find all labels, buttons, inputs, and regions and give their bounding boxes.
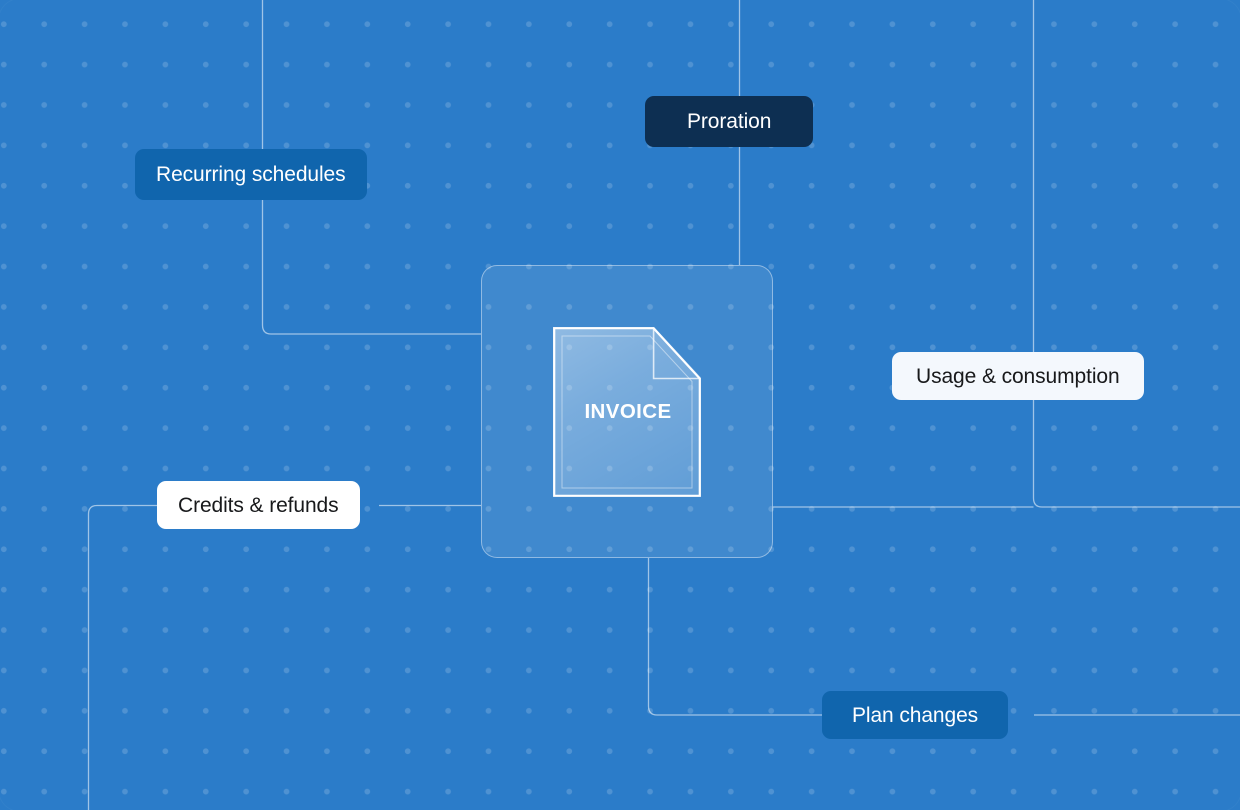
wire-plan-changes [649, 558, 823, 715]
invoice-card[interactable]: INVOICE [481, 265, 773, 558]
node-recurring-schedules[interactable]: Recurring schedules [135, 149, 367, 200]
node-plan-changes[interactable]: Plan changes [822, 691, 1008, 739]
node-plan-changes-label: Plan changes [852, 705, 978, 726]
node-credits-refunds-label: Credits & refunds [178, 495, 339, 516]
node-usage-consumption-label: Usage & consumption [916, 366, 1120, 387]
invoice-label: INVOICE [553, 400, 701, 424]
diagram-canvas: INVOICE Proration Recurring schedules Us… [0, 0, 1240, 810]
node-credits-refunds[interactable]: Credits & refunds [157, 481, 360, 529]
invoice-document-icon: INVOICE [553, 327, 701, 497]
wire-usage-bottom [1034, 400, 1240, 507]
node-proration-label: Proration [687, 111, 771, 132]
node-usage-consumption[interactable]: Usage & consumption [892, 352, 1144, 400]
wire-credits-refunds [89, 506, 158, 810]
node-recurring-schedules-label: Recurring schedules [156, 164, 346, 185]
node-proration[interactable]: Proration [645, 96, 813, 147]
